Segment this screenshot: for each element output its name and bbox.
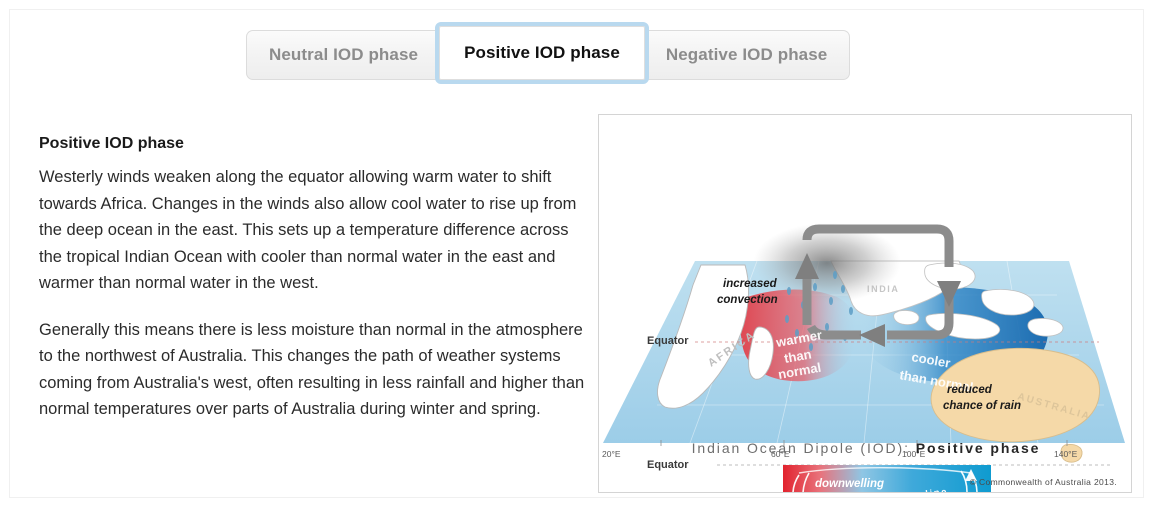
equator-label-map: Equator <box>647 335 689 347</box>
tab-positive-iod-phase[interactable]: Positive IOD phase <box>439 26 645 80</box>
tab-positive-label: Positive IOD phase <box>464 43 620 63</box>
article-paragraph-1: Westerly winds weaken along the equator … <box>39 164 587 297</box>
tab-neutral-label: Neutral IOD phase <box>269 45 418 65</box>
thermocline-cross-section: downwelling upwelling Equatorial thermoc… <box>783 465 991 493</box>
iod-diagram-panel: AFRICA INDIA <box>598 114 1132 493</box>
equator-label-section: Equator <box>647 459 689 471</box>
svg-text:chance of rain: chance of rain <box>943 400 1021 412</box>
figure-copyright: © Commonwealth of Australia 2013. <box>970 477 1117 487</box>
iod-phase-tablist: Neutral IOD phase Positive IOD phase Neg… <box>246 30 850 84</box>
article-paragraph-2: Generally this means there is less moist… <box>39 317 587 423</box>
svg-text:reduced: reduced <box>947 384 993 396</box>
page-frame: Neutral IOD phase Positive IOD phase Neg… <box>0 0 1153 507</box>
page-content-card: Neutral IOD phase Positive IOD phase Neg… <box>9 9 1144 498</box>
svg-text:increased: increased <box>723 278 778 290</box>
tab-neutral-iod-phase[interactable]: Neutral IOD phase <box>246 30 440 80</box>
convection-cloud <box>753 223 901 303</box>
figure-caption-prefix: Indian Ocean Dipole (IOD): <box>692 440 910 456</box>
figure-caption-emphasis: Positive phase <box>916 440 1041 456</box>
tab-negative-iod-phase[interactable]: Negative IOD phase <box>644 30 850 80</box>
svg-text:convection: convection <box>717 294 778 306</box>
tab-negative-label: Negative IOD phase <box>666 45 827 65</box>
figure-caption: Indian Ocean Dipole (IOD): Positive phas… <box>599 440 1132 456</box>
page-title: Positive IOD phase <box>39 134 587 154</box>
article-text-column: Positive IOD phase Westerly winds weaken… <box>39 134 587 443</box>
iod-schematic-diagram: AFRICA INDIA <box>599 115 1132 493</box>
downwelling-label: downwelling <box>815 478 884 490</box>
